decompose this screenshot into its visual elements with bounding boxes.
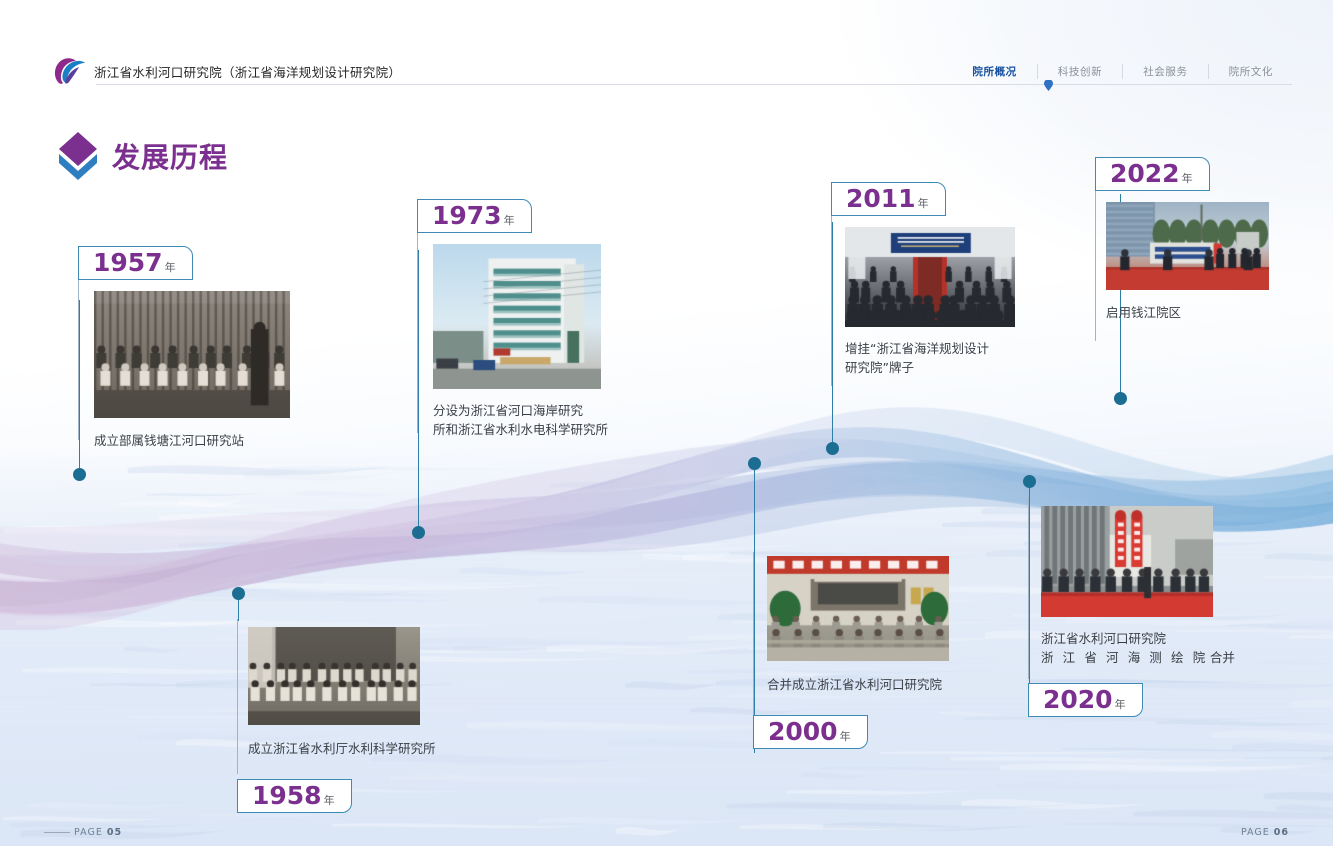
main-nav[interactable]: 院所概况 科技创新 社会服务 院所文化 (952, 60, 1293, 82)
year-suffix-2020: 年 (1115, 689, 1126, 721)
entry-rail-2020 (1028, 497, 1029, 679)
nav-item-innovation[interactable]: 科技创新 (1037, 64, 1122, 79)
year-badge-2022: 2022 年 (1095, 157, 1210, 191)
page-title: 发展历程 (112, 136, 228, 176)
diamond-chevron-icon (56, 130, 100, 182)
org-name: 浙江省水利河口研究院（浙江省海洋规划设计研究院） (94, 62, 401, 81)
swoosh-logo-icon (52, 56, 86, 86)
year-suffix-2022: 年 (1182, 163, 1193, 195)
entry-rail-1973 (417, 233, 418, 433)
year-suffix-1957: 年 (165, 252, 176, 284)
timeline-entry-1958: 成立浙江省水利厅水利科学研究所 1958 年 (237, 619, 436, 813)
year-suffix-1973: 年 (504, 205, 515, 237)
caption-2020-suffix: 合并 (1210, 648, 1235, 667)
year-number-1957: 1957 (93, 247, 163, 279)
photo-2011[interactable] (845, 227, 1015, 327)
caption-2022: 启用钱江院区 (1106, 303, 1269, 322)
timeline-entry-2011: 2011 年 增挂“浙江省海洋规划设计 研究院”牌子 (831, 182, 1015, 377)
timeline-entry-2020: 浙江省水利河口研究院 浙 江 省 河 海 测 绘 院 合并 2020 年 (1028, 497, 1235, 717)
caption-2011: 增挂“浙江省海洋规划设计 研究院”牌子 (845, 339, 1015, 377)
year-suffix-1958: 年 (324, 785, 335, 817)
caption-1958: 成立浙江省水利厅水利科学研究所 (248, 739, 436, 758)
year-badge-2020: 2020 年 (1028, 683, 1143, 717)
year-number-2011: 2011 (846, 183, 916, 215)
page-number-right: PAGE 06 (1241, 827, 1289, 838)
photo-2022[interactable] (1106, 202, 1269, 290)
photo-1957[interactable] (94, 291, 290, 418)
brand: 浙江省水利河口研究院（浙江省海洋规划设计研究院） (52, 56, 401, 86)
header-divider (96, 84, 1292, 85)
year-suffix-2000: 年 (840, 721, 851, 753)
photo-1973[interactable] (433, 244, 601, 389)
page-value-right: 06 (1274, 827, 1289, 838)
year-number-1973: 1973 (432, 200, 502, 232)
entry-rail-2000 (753, 552, 754, 717)
timeline-dot-1973[interactable] (412, 526, 425, 539)
page-header: 浙江省水利河口研究院（浙江省海洋规划设计研究院） 院所概况 科技创新 社会服务 … (0, 0, 1333, 100)
timeline-dot-2022[interactable] (1114, 392, 1127, 405)
page-label-left: PAGE (74, 827, 103, 838)
caption-2020: 浙江省水利河口研究院 浙 江 省 河 海 测 绘 院 合并 (1041, 629, 1235, 667)
caption-1957: 成立部属钱塘江河口研究站 (94, 431, 290, 450)
photo-1958[interactable] (248, 627, 420, 725)
nav-item-service[interactable]: 社会服务 (1122, 64, 1207, 79)
page-number-left: PAGE 05 (44, 827, 122, 838)
active-tab-pointer-icon (1044, 80, 1053, 91)
page-label-right: PAGE (1241, 827, 1270, 838)
year-number-2000: 2000 (768, 716, 838, 748)
entry-rail-2022 (1095, 191, 1096, 341)
timeline-entry-2000: 合并成立浙江省水利河口研究院 2000 年 (753, 552, 949, 749)
year-number-2020: 2020 (1043, 684, 1113, 716)
entry-rail-1957 (78, 280, 79, 440)
caption-2020-line2: 浙 江 省 河 海 测 绘 院 (1041, 648, 1208, 667)
year-badge-1958: 1958 年 (237, 779, 352, 813)
page-root: 浙江省水利河口研究院（浙江省海洋规划设计研究院） 院所概况 科技创新 社会服务 … (0, 0, 1333, 846)
year-badge-2000: 2000 年 (753, 715, 868, 749)
photo-2020[interactable] (1041, 506, 1213, 617)
nav-item-overview[interactable]: 院所概况 (952, 64, 1036, 79)
timeline-dot-2020[interactable] (1023, 475, 1036, 488)
year-suffix-2011: 年 (918, 188, 929, 220)
entry-rail-2011 (831, 216, 832, 386)
year-number-1958: 1958 (252, 780, 322, 812)
year-badge-2011: 2011 年 (831, 182, 946, 216)
year-number-2022: 2022 (1110, 158, 1180, 190)
timeline-dot-1958[interactable] (232, 587, 245, 600)
caption-2000: 合并成立浙江省水利河口研究院 (767, 675, 949, 694)
timeline-dot-2011[interactable] (826, 442, 839, 455)
entry-rail-1958 (237, 619, 238, 774)
page-rule-left (44, 832, 70, 833)
timeline-dot-1957[interactable] (73, 468, 86, 481)
timeline-entry-1973: 1973 年 分设为浙江省河口海岸研究 所和浙江省水利水电科学研究所 (417, 199, 608, 439)
section-title: 发展历程 (56, 130, 228, 182)
nav-item-culture[interactable]: 院所文化 (1208, 64, 1293, 79)
timeline-dot-2000[interactable] (748, 457, 761, 470)
timeline-entry-1957: 1957 年 成立部属钱塘江河口研究站 (78, 246, 290, 450)
caption-1973: 分设为浙江省河口海岸研究 所和浙江省水利水电科学研究所 (433, 401, 608, 439)
page-value-left: 05 (107, 827, 122, 838)
caption-2020-line1: 浙江省水利河口研究院 (1041, 629, 1208, 648)
photo-2000[interactable] (767, 556, 949, 661)
year-badge-1957: 1957 年 (78, 246, 193, 280)
timeline-entry-2022: 2022 年 启用钱江院区 (1095, 157, 1269, 322)
year-badge-1973: 1973 年 (417, 199, 532, 233)
